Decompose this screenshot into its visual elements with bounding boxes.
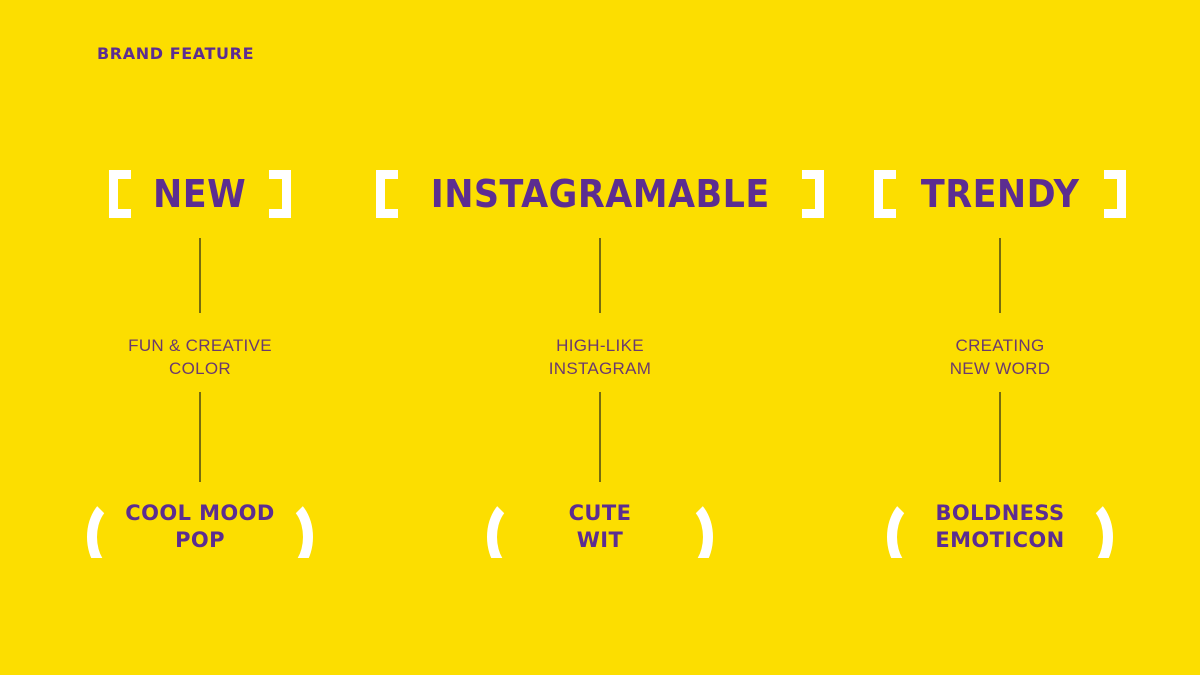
descriptor-line-1: HIGH-LIKE	[400, 334, 800, 357]
headline-group: TRENDY	[800, 168, 1200, 220]
bracket-left-icon	[376, 170, 398, 218]
column-keyword: COOL MOOD POP	[125, 500, 275, 554]
paren-left-icon	[887, 496, 909, 558]
column-descriptor: FUN & CREATIVE COLOR	[0, 334, 400, 380]
bracket-left-icon	[874, 170, 896, 218]
connector-line-bottom	[999, 392, 1001, 482]
column-headline: TRENDY	[921, 175, 1079, 213]
keyword-group: CUTE WIT	[400, 492, 800, 562]
keyword-line-1: COOL MOOD	[125, 500, 275, 527]
column-headline: NEW	[153, 175, 246, 213]
descriptor-line-2: COLOR	[0, 357, 400, 380]
connector-line-top	[599, 238, 601, 313]
column-keyword: CUTE WIT	[525, 500, 675, 554]
paren-left-icon	[87, 496, 109, 558]
headline-group: NEW	[0, 168, 400, 220]
descriptor-line-1: CREATING	[800, 334, 1200, 357]
paren-right-icon	[291, 496, 313, 558]
keyword-line-1: BOLDNESS	[925, 500, 1075, 527]
column-descriptor: CREATING NEW WORD	[800, 334, 1200, 380]
keyword-group: BOLDNESS EMOTICON	[800, 492, 1200, 562]
slide-canvas: BRAND FEATURE NEW FUN & CREATIVE COLOR C…	[0, 0, 1200, 675]
keyword-group: COOL MOOD POP	[0, 492, 400, 562]
descriptor-line-2: INSTAGRAM	[400, 357, 800, 380]
keyword-line-1: CUTE	[525, 500, 675, 527]
bracket-left-icon	[109, 170, 131, 218]
feature-column-trendy: TRENDY CREATING NEW WORD BOLDNESS EMOTIC…	[800, 0, 1200, 675]
keyword-line-2: WIT	[525, 527, 675, 554]
connector-line-bottom	[599, 392, 601, 482]
feature-column-instagramable: INSTAGRAMABLE HIGH-LIKE INSTAGRAM CUTE W…	[400, 0, 800, 675]
descriptor-line-2: NEW WORD	[800, 357, 1200, 380]
descriptor-line-1: FUN & CREATIVE	[0, 334, 400, 357]
feature-column-new: NEW FUN & CREATIVE COLOR COOL MOOD POP	[0, 0, 400, 675]
bracket-right-icon	[269, 170, 291, 218]
connector-line-top	[199, 238, 201, 313]
paren-right-icon	[1091, 496, 1113, 558]
column-keyword: BOLDNESS EMOTICON	[925, 500, 1075, 554]
keyword-line-2: EMOTICON	[925, 527, 1075, 554]
paren-left-icon	[487, 496, 509, 558]
column-headline: INSTAGRAMABLE	[431, 175, 770, 213]
connector-line-bottom	[199, 392, 201, 482]
connector-line-top	[999, 238, 1001, 313]
feature-columns: NEW FUN & CREATIVE COLOR COOL MOOD POP	[0, 0, 1200, 675]
headline-group: INSTAGRAMABLE	[400, 168, 800, 220]
paren-right-icon	[691, 496, 713, 558]
bracket-right-icon	[1104, 170, 1126, 218]
keyword-line-2: POP	[125, 527, 275, 554]
column-descriptor: HIGH-LIKE INSTAGRAM	[400, 334, 800, 380]
